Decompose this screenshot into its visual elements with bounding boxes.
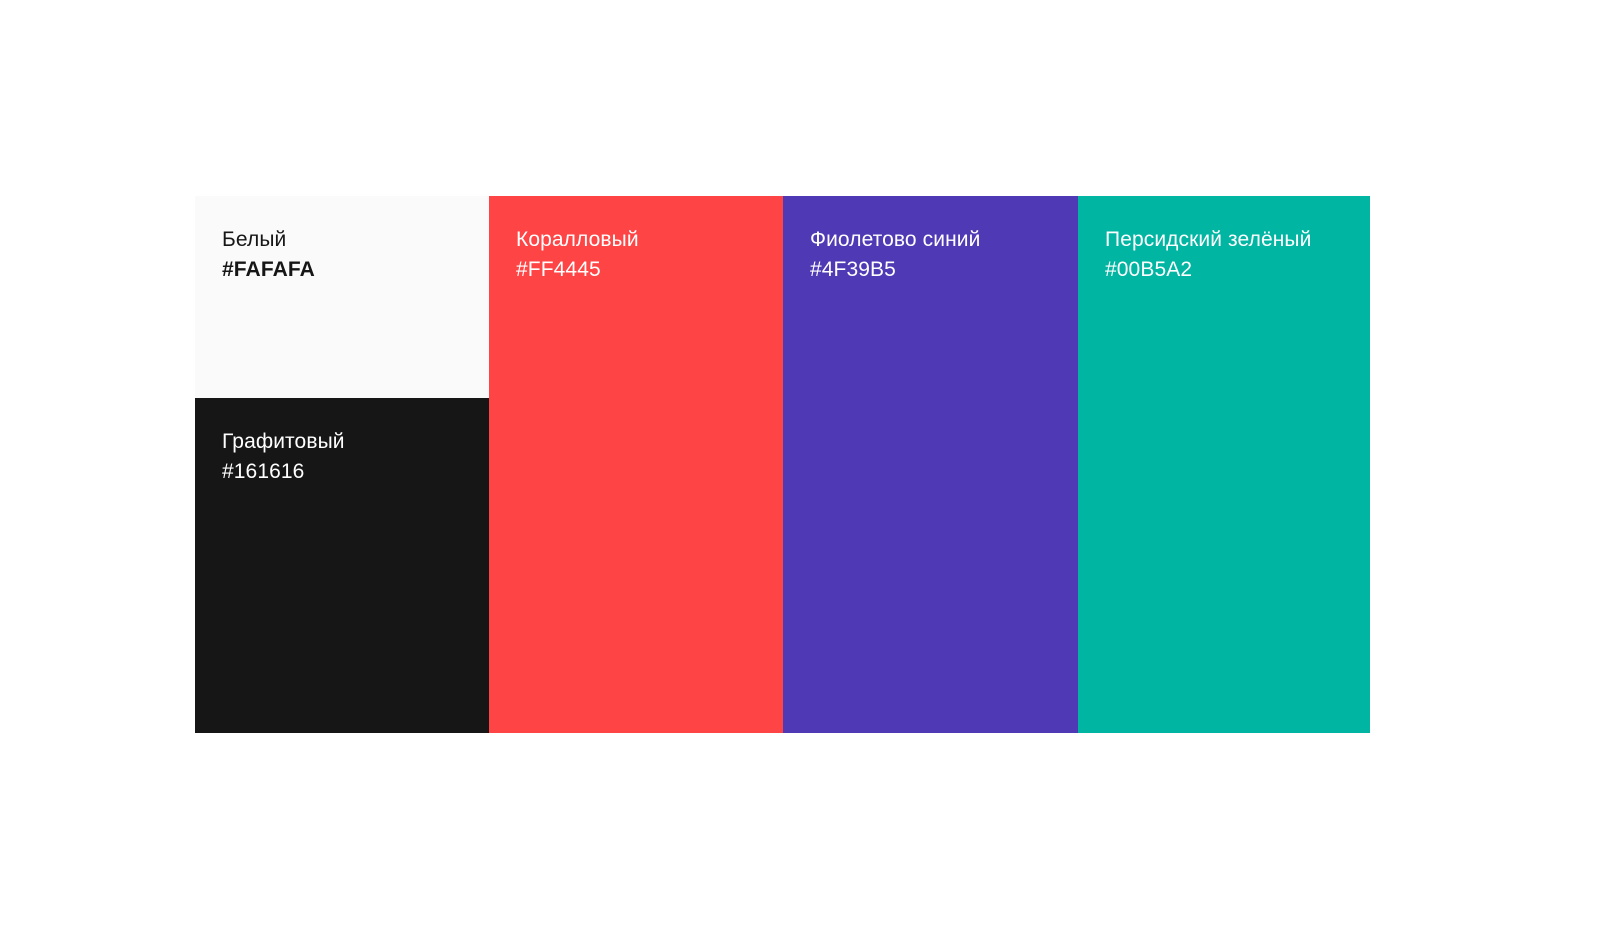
color-swatch-graphite-hex: #161616 — [222, 457, 465, 487]
color-swatch-graphite-label: Графитовый — [222, 427, 465, 457]
color-swatch-coral-hex: #FF4445 — [516, 255, 759, 285]
color-swatch-coral-label: Коралловый — [516, 225, 759, 255]
color-swatch-violet-blue-label: Фиолетово синий — [810, 225, 1054, 255]
swatch-column-coral: Коралловый #FF4445 — [489, 196, 783, 733]
color-swatch-white-label: Белый — [222, 225, 465, 255]
color-swatch-persian-green[interactable]: Персидский зелёный #00B5A2 — [1078, 196, 1370, 733]
color-swatch-coral[interactable]: Коралловый #FF4445 — [489, 196, 783, 733]
color-palette-board: Белый #FAFAFA Графитовый #161616 Коралло… — [195, 196, 1370, 733]
swatch-column-persian-green: Персидский зелёный #00B5A2 — [1078, 196, 1370, 733]
color-swatch-white[interactable]: Белый #FAFAFA — [195, 196, 489, 398]
color-swatch-persian-green-label: Персидский зелёный — [1105, 225, 1346, 255]
color-swatch-persian-green-hex: #00B5A2 — [1105, 255, 1346, 285]
color-swatch-violet-blue-hex: #4F39B5 — [810, 255, 1054, 285]
swatch-column-neutral: Белый #FAFAFA Графитовый #161616 — [195, 196, 489, 733]
swatch-column-violet-blue: Фиолетово синий #4F39B5 — [783, 196, 1078, 733]
color-swatch-graphite[interactable]: Графитовый #161616 — [195, 398, 489, 733]
color-swatch-white-hex: #FAFAFA — [222, 255, 465, 285]
color-swatch-violet-blue[interactable]: Фиолетово синий #4F39B5 — [783, 196, 1078, 733]
